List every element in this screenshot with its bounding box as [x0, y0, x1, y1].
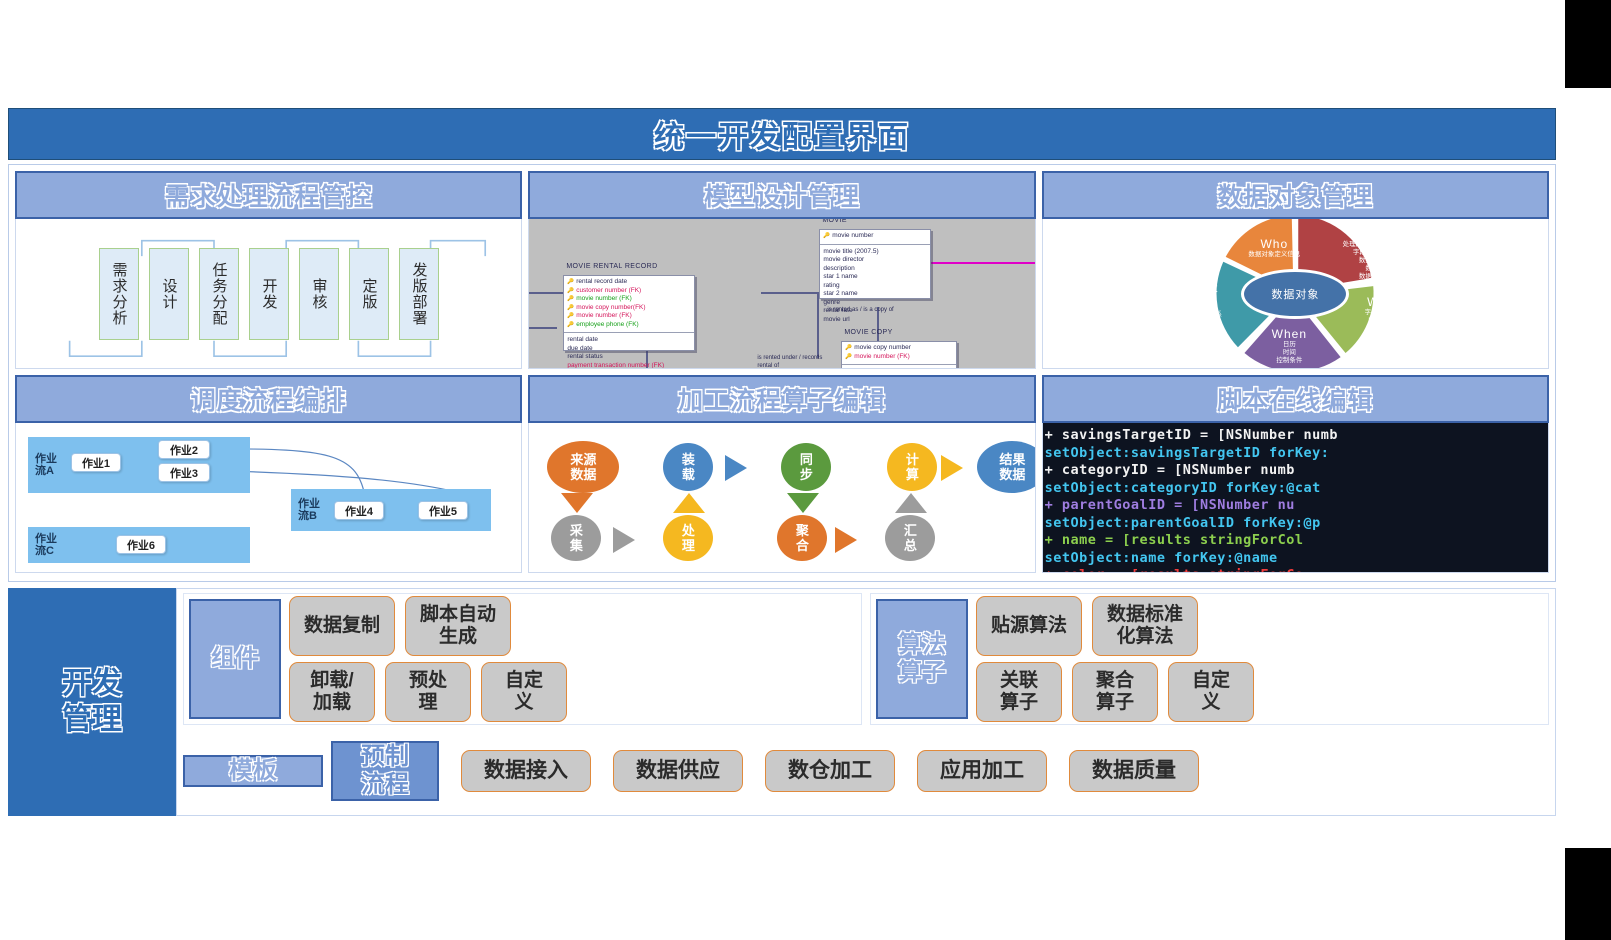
er-line-b [529, 327, 557, 329]
dev-management-content: 组件 数据复制 脚本自动 生成 卸载/ 加载 预处 理 自定 义 [176, 588, 1556, 816]
code-line-7: setObject:name forKey:@name [1045, 550, 1546, 568]
er-entity-movie-copy[interactable]: MOVIE COPY movie copy number movie numbe… [841, 341, 957, 369]
diagram-root: 统一开发配置界面 需求处理流程管控 [8, 108, 1556, 820]
arrow-right-blue-icon [725, 455, 747, 481]
slice-cn-who: 数据对象定义信息 [1214, 251, 1334, 259]
slice-cn-when: 日历 时间 控制条件 [1244, 341, 1334, 365]
panel-title-script: 脚本在线编辑 [1217, 381, 1373, 417]
er-field: description [823, 265, 927, 274]
op-node-source-data[interactable]: 来源 数据 [547, 441, 619, 493]
panel-title-dataobject: 数据对象管理 [1217, 177, 1373, 213]
slice-label-who: Who 数据对象定义信息 [1214, 240, 1334, 259]
er-entity-title-0: MOVIE RENTAL RECORD [566, 263, 657, 270]
job-a-1[interactable]: 作业1 [71, 453, 121, 472]
code-line-3: setObject:categoryID forKey:@cat [1045, 480, 1546, 498]
slice-en-who: Who [1214, 240, 1334, 249]
category-algorithm-operators[interactable]: 算法 算子 [876, 599, 968, 719]
job-flow-label-a: 作业 流A [35, 453, 57, 477]
job-b-5[interactable]: 作业5 [418, 501, 468, 520]
chip-source-algorithm[interactable]: 贴源算法 [976, 596, 1082, 656]
panel-operator-editor[interactable]: 加工流程算子编辑 来源 数据 装 载 同 步 计 算 结果 数据 采 集 处 理… [528, 375, 1035, 573]
panel-script-editor[interactable]: 脚本在线编辑 + savingsTargetID = [NSNumber num… [1042, 375, 1549, 573]
category-algorithm-label: 算法 算子 [898, 631, 946, 687]
op-node-compute[interactable]: 计 算 [887, 443, 937, 491]
job-flow-label-b: 作业 流B [298, 498, 320, 522]
er-key: movie number [823, 232, 927, 241]
donut: How 处理的处理逻辑加工算法 字段mapping信息 数据生成原则 数据加工 … [1160, 219, 1430, 369]
chip-join-operator[interactable]: 关联 算子 [976, 662, 1062, 722]
er-field: payment transaction number (FK) [567, 362, 691, 370]
arrow-up-yellow-icon [673, 493, 705, 513]
code-line-1: setObject:savingsTargetID forKey: [1045, 445, 1546, 463]
category-preset-flow-label: 预制 流程 [361, 743, 409, 799]
operator-flow-canvas: 来源 数据 装 载 同 步 计 算 结果 数据 采 集 处 理 聚 合 汇 总 [529, 423, 1034, 572]
component-chip-row-1: 数据复制 脚本自动 生成 [289, 596, 856, 656]
code-line-2: + categoryID = [NSNumber numb [1045, 462, 1546, 480]
er-line-c [761, 292, 819, 294]
er-field: rental date [567, 336, 691, 345]
slice-label-how: How 处理的处理逻辑加工算法 字段mapping信息 数据生成原则 数据加工 … [1328, 230, 1428, 281]
panel-requirement-process[interactable]: 需求处理流程管控 需求分析 [15, 171, 522, 369]
job-a-3[interactable]: 作业3 [158, 463, 210, 482]
category-components-label: 组件 [211, 645, 259, 673]
code-line-6: + name = [results stringForCol [1045, 532, 1546, 550]
er-key: movie number (FK) [567, 312, 691, 321]
er-line-d [817, 292, 819, 358]
requirement-step-row: 需求分析 设计 任务分配 开发 审核 定版 发版部署 [16, 219, 521, 368]
slice-en-what: What [1154, 284, 1250, 293]
donut-center-label: 数据对象 [1241, 269, 1349, 319]
er-diagram-canvas: MOVIE RENTAL RECORD rental record date c… [529, 219, 1034, 368]
op-node-summarize[interactable]: 汇 总 [885, 515, 935, 561]
op-node-collect[interactable]: 采 集 [551, 515, 601, 561]
dev-management-section: 开发 管理 组件 数据复制 脚本自动 生成 [8, 588, 1556, 816]
er-key: movie copy number [845, 344, 953, 353]
dev-management-title: 开发 管理 [8, 588, 176, 816]
chip-warehouse-process[interactable]: 数仓加工 [765, 750, 895, 792]
arrow-right-yellow-icon [941, 455, 963, 481]
er-relationship-label-0: is rented as / is a copy of [827, 307, 897, 315]
req-step-1[interactable]: 设计 [149, 248, 189, 340]
code-line-0: + savingsTargetID = [NSNumber numb [1045, 427, 1546, 445]
code-editor-surface[interactable]: + savingsTargetID = [NSNumber numb setOb… [1043, 423, 1548, 572]
er-key: rental record date [567, 278, 691, 287]
er-field: rating [823, 282, 927, 291]
job-c-6[interactable]: 作业6 [116, 535, 166, 554]
arrow-right-orange-icon [835, 527, 857, 553]
component-chip-row-2: 卸载/ 加载 预处 理 自定 义 [289, 662, 856, 722]
algorithm-chip-list: 贴源算法 数据标准 化算法 关联 算子 聚合 算子 自定 义 [976, 599, 1543, 719]
feature-panels-grid: 需求处理流程管控 需求分析 [8, 164, 1556, 582]
panel-body-script: + savingsTargetID = [NSNumber numb setOb… [1042, 423, 1549, 573]
donut-center-text: 数据对象 [1271, 286, 1319, 302]
category-preset-flow[interactable]: 预制 流程 [331, 741, 439, 801]
er-field: movie title (2007.5) [823, 248, 927, 257]
er-field: rental status [567, 353, 691, 362]
arrow-right-gray-icon [613, 527, 635, 553]
er-entity-keys-2: movie copy number movie number (FK) [842, 342, 956, 363]
chip-unload-load[interactable]: 卸载/ 加载 [289, 662, 375, 722]
arrow-up-gray-icon [895, 493, 927, 513]
slice-cn-what: 数据名称 数据用法 数据对象关系 取值范围 [1154, 295, 1250, 327]
chip-custom-component[interactable]: 自定 义 [481, 662, 567, 722]
panel-header-script: 脚本在线编辑 [1042, 375, 1549, 423]
chip-application-process[interactable]: 应用加工 [917, 750, 1047, 792]
er-divider [820, 244, 930, 245]
panel-body-operator: 来源 数据 装 载 同 步 计 算 结果 数据 采 集 处 理 聚 合 汇 总 [528, 423, 1035, 573]
chip-preprocess[interactable]: 预处 理 [385, 662, 471, 722]
chip-data-replication[interactable]: 数据复制 [289, 596, 395, 656]
er-divider [564, 332, 694, 333]
right-edge-band-top [1565, 0, 1611, 88]
er-key: employee phone (FK) [567, 321, 691, 330]
er-field: general condition [845, 368, 953, 369]
panel-body-model: MOVIE RENTAL RECORD rental record date c… [528, 219, 1035, 369]
preset-flow-chip-list: 数据接入 数据供应 数仓加工 应用加工 数据质量 [447, 750, 1549, 792]
slice-en-where: Where [1342, 298, 1432, 307]
er-relationship-label-1: is rented under / records rental of [757, 355, 837, 369]
req-step-6[interactable]: 发版部署 [399, 248, 439, 340]
slice-label-when: When 日历 时间 控制条件 [1244, 330, 1334, 365]
slice-label-where: Where 字段物理落地位 Mapping关系 [1342, 298, 1432, 325]
arrow-down-orange-icon [561, 493, 593, 513]
scheduling-canvas: 作业 流A 作业1 作业2 作业3 作业 流B 作业4 作业5 作业 流C [16, 423, 521, 572]
component-chip-list: 数据复制 脚本自动 生成 卸载/ 加载 预处 理 自定 义 [289, 599, 856, 719]
er-entity-movie[interactable]: MOVIE movie number movie title (2007.5) … [819, 229, 931, 299]
category-components[interactable]: 组件 [189, 599, 281, 719]
panel-title-requirement: 需求处理流程管控 [165, 177, 373, 213]
job-a-2[interactable]: 作业2 [158, 440, 210, 459]
chip-aggregate-operator[interactable]: 聚合 算子 [1072, 662, 1158, 722]
panel-title-scheduling: 调度流程编排 [191, 381, 347, 417]
er-field: star 2 name [823, 290, 927, 299]
dev-management-title-text: 开发 管理 [62, 666, 122, 738]
op-node-process[interactable]: 处 理 [663, 515, 713, 561]
er-field: star 1 name [823, 273, 927, 282]
panel-scheduling[interactable]: 调度流程编排 [15, 375, 522, 573]
slide-canvas: 统一开发配置界面 需求处理流程管控 [0, 0, 1611, 940]
er-entity-movie-rental-record[interactable]: MOVIE RENTAL RECORD rental record date c… [563, 275, 695, 351]
panel-body-dataobject: How 处理的处理逻辑加工算法 字段mapping信息 数据生成原则 数据加工 … [1042, 219, 1549, 369]
arrow-down-green-icon [787, 493, 819, 513]
data-object-donut-chart: How 处理的处理逻辑加工算法 字段mapping信息 数据生成原则 数据加工 … [1043, 219, 1548, 368]
op-node-result-data[interactable]: 结果 数据 [977, 441, 1035, 493]
slice-en-when: When [1244, 330, 1334, 339]
er-key: movie number (FK) [567, 295, 691, 304]
panel-header-scheduling: 调度流程编排 [15, 375, 522, 423]
dev-row-template: 模板 预制 流程 数据接入 数据供应 数仓加工 应用加工 数据质量 [177, 729, 1555, 813]
algorithm-chip-row-1: 贴源算法 数据标准 化算法 [976, 596, 1543, 656]
er-key: movie copy number(FK) [567, 304, 691, 313]
panel-body-scheduling: 作业 流A 作业1 作业2 作业3 作业 流B 作业4 作业5 作业 流C [15, 423, 522, 573]
op-node-load[interactable]: 装 载 [663, 443, 713, 491]
er-field: movie director [823, 256, 927, 265]
panel-title-operator: 加工流程算子编辑 [678, 381, 886, 417]
job-flow-group-a[interactable]: 作业 流A [28, 437, 250, 493]
er-line-a [529, 292, 563, 294]
right-edge-band-bottom [1565, 848, 1611, 940]
panel-body-requirement: 需求分析 设计 任务分配 开发 审核 定版 发版部署 [15, 219, 522, 369]
er-line-pink [929, 262, 1035, 264]
er-entity-fields-0: rental date due date rental status payme… [564, 334, 694, 369]
main-title-banner: 统一开发配置界面 [8, 108, 1556, 160]
code-line-4: + parentGoalID = [NSNumber nu [1045, 497, 1546, 515]
main-title-text: 统一开发配置界面 [654, 112, 910, 156]
chip-custom-operator[interactable]: 自定 义 [1168, 662, 1254, 722]
er-entity-keys-1: movie number [820, 230, 930, 243]
er-field: due date [567, 345, 691, 354]
op-node-aggregate[interactable]: 聚 合 [777, 515, 827, 561]
chip-data-supply[interactable]: 数据供应 [613, 750, 743, 792]
panel-title-model: 模型设计管理 [704, 177, 860, 213]
req-step-4[interactable]: 审核 [299, 248, 339, 340]
category-template-label: 模板 [229, 757, 277, 785]
er-entity-title-1: MOVIE [822, 219, 847, 224]
er-entity-keys-0: rental record date customer number (FK) … [564, 276, 694, 331]
slice-cn-how: 处理的处理逻辑加工算法 字段mapping信息 数据生成原则 数据加工 数据存储… [1328, 241, 1428, 281]
chip-standardization-algorithm[interactable]: 数据标准 化算法 [1092, 596, 1198, 656]
er-divider [842, 364, 956, 365]
code-line-8: + color = [results stringForCo [1045, 567, 1546, 572]
slice-label-what: What 数据名称 数据用法 数据对象关系 取值范围 [1154, 284, 1250, 327]
req-step-3[interactable]: 开发 [249, 248, 289, 340]
er-key: movie number (FK) [845, 353, 953, 362]
er-entity-title-2: MOVIE COPY [844, 329, 892, 336]
er-field: movie url [823, 316, 927, 325]
job-b-4[interactable]: 作业4 [334, 501, 384, 520]
panel-header-dataobject: 数据对象管理 [1042, 171, 1549, 219]
component-group: 组件 数据复制 脚本自动 生成 卸载/ 加载 预处 理 自定 义 [183, 593, 862, 725]
algorithm-chip-row-2: 关联 算子 聚合 算子 自定 义 [976, 662, 1543, 722]
panel-header-model: 模型设计管理 [528, 171, 1035, 219]
panel-header-operator: 加工流程算子编辑 [528, 375, 1035, 423]
code-line-5: setObject:parentGoalID forKey:@p [1045, 515, 1546, 533]
chip-data-ingest[interactable]: 数据接入 [461, 750, 591, 792]
slice-cn-where: 字段物理落地位 Mapping关系 [1342, 309, 1432, 325]
er-key: customer number (FK) [567, 287, 691, 296]
er-field: genre [823, 299, 927, 308]
req-step-0[interactable]: 需求分析 [99, 248, 139, 340]
op-node-sync[interactable]: 同 步 [781, 443, 831, 491]
algorithm-group: 算法 算子 贴源算法 数据标准 化算法 关联 算子 聚合 算子 自定 义 [870, 593, 1549, 725]
category-template[interactable]: 模板 [183, 755, 323, 787]
req-step-5[interactable]: 定版 [349, 248, 389, 340]
job-flow-label-c: 作业 流C [35, 533, 57, 557]
slice-en-how: How [1328, 230, 1428, 239]
panel-model-design[interactable]: 模型设计管理 MOVIE RENTAL RECORD [528, 171, 1035, 369]
chip-script-autogen[interactable]: 脚本自动 生成 [405, 596, 511, 656]
er-entity-fields-2: general condition movie format [842, 366, 956, 369]
panel-data-object[interactable]: 数据对象管理 [1042, 171, 1549, 369]
panel-header-requirement: 需求处理流程管控 [15, 171, 522, 219]
chip-data-quality[interactable]: 数据质量 [1069, 750, 1199, 792]
dev-row-components-algorithms: 组件 数据复制 脚本自动 生成 卸载/ 加载 预处 理 自定 义 [177, 589, 1555, 729]
req-step-2[interactable]: 任务分配 [199, 248, 239, 340]
